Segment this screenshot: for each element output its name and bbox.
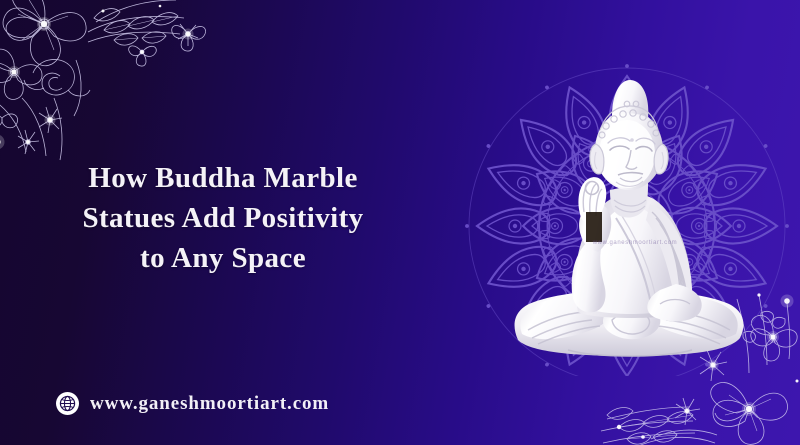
floral-ornament-icon [0, 0, 222, 165]
globe-icon [56, 392, 79, 415]
watermark-tag-icon [586, 212, 602, 242]
headline-line-1: How Buddha Marble [28, 158, 418, 198]
headline-line-2: Statues Add Positivity [28, 198, 418, 238]
page-title: How Buddha Marble Statues Add Positivity… [28, 158, 418, 278]
buddha-statue-image: www.ganeshmoortiart.com [500, 72, 760, 372]
headline-line-3: to Any Space [28, 238, 418, 278]
blog-banner: www.ganeshmoortiart.com How Buddha Marbl… [0, 0, 800, 445]
website-url-text[interactable]: www.ganeshmoortiart.com [90, 393, 329, 415]
website-url-row[interactable]: www.ganeshmoortiart.com [56, 392, 329, 415]
